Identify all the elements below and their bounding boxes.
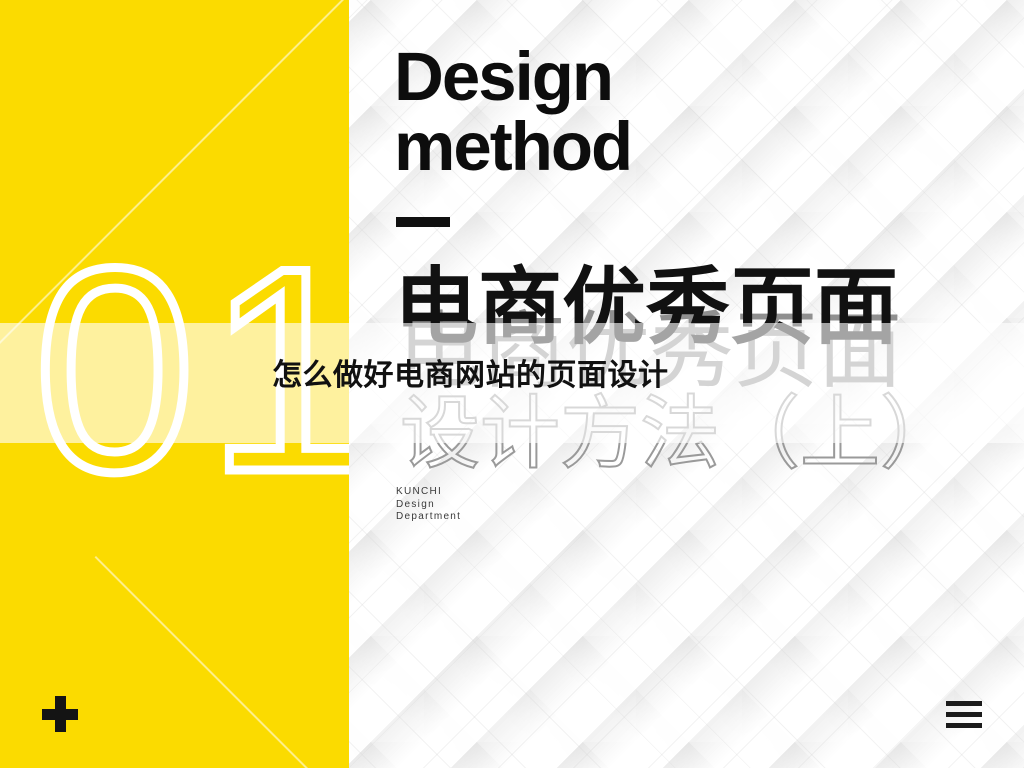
hamburger-bar-2 (946, 712, 982, 717)
banner-title: 怎么做好电商网站的页面设计 (272, 358, 669, 394)
english-title: Design method (394, 42, 631, 182)
hamburger-menu-icon[interactable] (946, 701, 982, 728)
cjk-subheadline: 设计方法（上） (400, 392, 960, 476)
cjk-headline: 电商优秀页面 (394, 262, 898, 352)
plus-icon[interactable] (42, 696, 78, 732)
plus-icon-vertical-bar (55, 696, 66, 732)
hamburger-bar-3 (946, 723, 982, 728)
diagonal-line-bottom (95, 556, 349, 768)
hamburger-bar-1 (946, 701, 982, 706)
slide-canvas: 01 Design method 电商优秀页面 电商优秀页面 设计方法（上） K… (0, 0, 1024, 768)
title-divider-dash (396, 217, 450, 227)
department-label: KUNCHI Design Department (396, 486, 461, 524)
